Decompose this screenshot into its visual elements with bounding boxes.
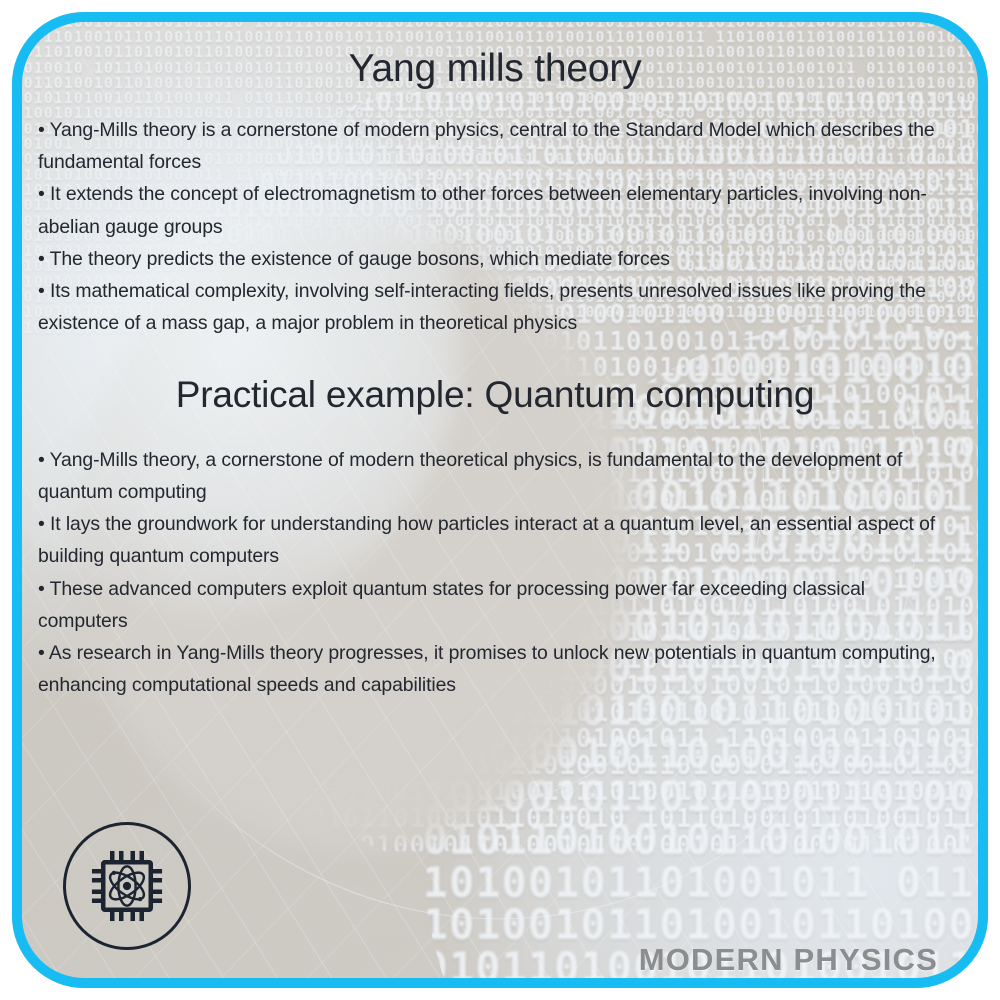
bullet-item: • The theory predicts the existence of g…: [38, 243, 952, 275]
bullet-item: • Yang-Mills theory, a cornerstone of mo…: [38, 444, 952, 508]
brand-wordmark: MODERN PHYSICS: [639, 942, 938, 978]
section-one-bullets: • Yang-Mills theory is a cornerstone of …: [38, 114, 952, 339]
section-subtitle: Practical example: Quantum computing: [38, 373, 952, 417]
page-title: Yang mills theory: [38, 46, 952, 92]
bullet-item: • As research in Yang-Mills theory progr…: [38, 637, 952, 701]
quantum-chip-atom-icon: [86, 845, 168, 927]
bullet-item: • It extends the concept of electromagne…: [38, 178, 952, 242]
bullet-item: • Yang-Mills theory is a cornerstone of …: [38, 114, 952, 178]
bullet-item: • It lays the groundwork for understandi…: [38, 508, 952, 572]
logo-badge: [63, 822, 191, 950]
poster: 1011001010110100101101001011010010110100…: [0, 0, 1000, 1000]
bullet-item: • These advanced computers exploit quant…: [38, 573, 952, 637]
section-two-bullets: • Yang-Mills theory, a cornerstone of mo…: [38, 444, 952, 702]
bullet-item: • Its mathematical complexity, involving…: [38, 275, 952, 339]
